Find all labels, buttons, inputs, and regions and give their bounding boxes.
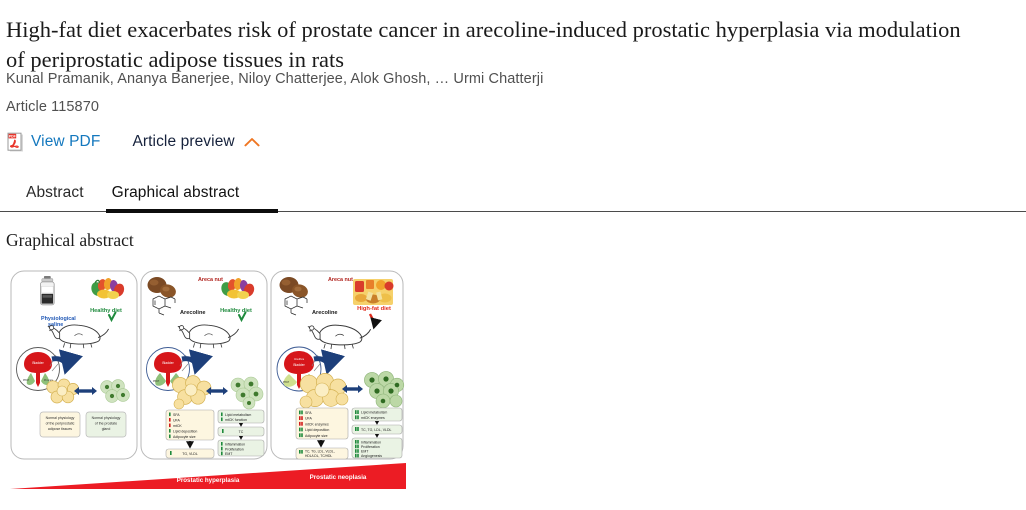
panel3-source-label: Areca nut [328, 277, 353, 283]
svg-text:TC, TG, LDL, VLDL,: TC, TG, LDL, VLDL, [305, 450, 335, 454]
svg-text:mtCK enzymes: mtCK enzymes [361, 416, 385, 420]
panel3-prostate-outcomes: Inflammation Proliferation EMT Angiogene… [352, 438, 402, 458]
panel2-adipose-outcomes: TG, VLDL [166, 449, 214, 458]
svg-text:of the prostate: of the prostate [95, 421, 117, 425]
view-pdf-link[interactable]: PDF View PDF [6, 132, 100, 153]
tab-list: Abstract Graphical abstract [12, 181, 253, 211]
svg-text:Prostatic neoplasia: Prostatic neoplasia [310, 474, 367, 481]
svg-text:SFA: SFA [173, 413, 180, 417]
svg-text:PPAT: PPAT [153, 380, 160, 383]
panel-arecoline-hfd: Areca nut Arecoline [271, 271, 404, 459]
progression-banner: Prostatic hyperplasia Prostatic neoplasi… [10, 463, 406, 489]
svg-text:Proliferation: Proliferation [361, 445, 380, 449]
svg-text:Bladder: Bladder [162, 361, 174, 365]
svg-text:Adipocyte size: Adipocyte size [305, 434, 328, 438]
panel2-treatment-label: Arecoline [180, 310, 206, 316]
panel2-adipose-markers: SFA UFA mtCK Lipid deposition Adipocyte … [166, 410, 214, 440]
svg-text:mtCK: mtCK [173, 424, 182, 428]
svg-text:Lipid deposition: Lipid deposition [305, 428, 329, 432]
active-tab-indicator [106, 209, 278, 213]
panel3-diet-label: High-fat diet [357, 306, 391, 312]
article-number: Article 115870 [6, 99, 99, 115]
svg-text:PPAT: PPAT [283, 381, 290, 384]
svg-text:Lipid metabolism: Lipid metabolism [225, 413, 251, 417]
svg-text:Lipid metabolism: Lipid metabolism [361, 411, 387, 415]
panel1-note-prostate: Normal physiology of the prostate gland [86, 412, 126, 437]
svg-text:Prostatic hyperplasia: Prostatic hyperplasia [177, 477, 240, 484]
svg-text:Normal physiology: Normal physiology [92, 416, 121, 420]
svg-text:mtCK function: mtCK function [225, 418, 247, 422]
svg-text:Bladder: Bladder [32, 361, 44, 365]
svg-text:Inflammation: Inflammation [361, 440, 381, 444]
svg-text:UFA: UFA [305, 417, 312, 421]
svg-text:TG, VLDL: TG, VLDL [182, 452, 198, 456]
panel3-prostate-markers: Lipid metabolism mtCK enzymes [352, 408, 402, 421]
tab-abstract[interactable]: Abstract [12, 181, 98, 211]
svg-text:EMT: EMT [225, 452, 233, 456]
svg-text:Angiogenesis: Angiogenesis [361, 454, 382, 458]
graphical-abstract-figure[interactable]: Prostatic hyperplasia Prostatic neoplasi… [8, 267, 408, 492]
panel2-prostate-outcomes: Inflammation Proliferation EMT [218, 440, 264, 456]
view-pdf-label: View PDF [31, 133, 100, 151]
panel2-prostate-markers: Lipid metabolism mtCK function [218, 410, 264, 423]
panel-control: Physiological saline Healthy diet [11, 271, 137, 459]
graphical-abstract-svg: Prostatic hyperplasia Prostatic neoplasi… [8, 267, 408, 492]
section-heading: Graphical abstract [6, 230, 134, 251]
panel1-diet-label: Healthy diet [90, 308, 122, 314]
svg-text:Proliferation: Proliferation [225, 447, 244, 451]
svg-text:PDF: PDF [9, 134, 16, 138]
panel2-prostate-markers-2: TC [218, 427, 264, 436]
panel3-adipose-markers: SFA UFA mtCK enzymes Lipid deposition Ad… [296, 408, 348, 439]
pdf-file-icon: PDF [6, 132, 24, 153]
page-title: High-fat diet exacerbates risk of prosta… [6, 15, 966, 75]
article-preview-toggle[interactable]: Article preview [132, 133, 259, 151]
svg-text:Inflammation: Inflammation [225, 443, 245, 447]
svg-text:mtCK enzymes: mtCK enzymes [305, 422, 329, 426]
svg-text:adipose tissues: adipose tissues [48, 427, 72, 431]
svg-text:Lipid deposition: Lipid deposition [173, 430, 197, 434]
panel3-prostate-markers-2: TC, TG, LDL, VLDL [352, 425, 402, 434]
svg-text:PPAT: PPAT [23, 379, 30, 382]
article-actions: PDF View PDF Article preview [6, 128, 260, 156]
svg-text:UFA: UFA [173, 419, 180, 423]
svg-text:TC, TG, LDL, VLDL: TC, TG, LDL, VLDL [361, 428, 392, 432]
panel2-diet-label: Healthy diet [220, 308, 252, 314]
svg-text:of the periprostatic: of the periprostatic [46, 421, 75, 425]
svg-text:Normal physiology: Normal physiology [46, 416, 75, 420]
author-list: Kunal Pramanik, Ananya Banerjee, Niloy C… [6, 71, 543, 87]
panel1-note-adipose: Normal physiology of the periprostatic a… [40, 412, 80, 437]
svg-text:HDL/LDL, TC/HDL: HDL/LDL, TC/HDL [305, 454, 332, 458]
svg-text:Bladder: Bladder [293, 363, 305, 367]
chevron-up-icon [244, 137, 260, 147]
svg-text:TC: TC [239, 430, 244, 434]
panel3-treatment-label: Arecoline [312, 310, 338, 316]
panel3-adipose-outcomes: TC, TG, LDL, VLDL, HDL/LDL, TC/HDL [296, 448, 348, 459]
preview-tabstrip: Abstract Graphical abstract [0, 181, 1026, 214]
svg-text:Adipocyte size: Adipocyte size [173, 435, 196, 439]
svg-text:Urethra: Urethra [294, 357, 304, 361]
panel-arecoline: Areca nut Arecoline [141, 271, 267, 459]
svg-text:SFA: SFA [305, 411, 312, 415]
panel2-source-label: Areca nut [198, 277, 223, 283]
article-preview-label: Article preview [132, 133, 234, 151]
svg-text:gland: gland [102, 427, 111, 431]
tab-graphical-abstract[interactable]: Graphical abstract [98, 181, 254, 211]
article-preview-page: High-fat diet exacerbates risk of prosta… [0, 0, 1026, 510]
saline-bottle-icon [41, 276, 55, 305]
svg-text:EMT: EMT [361, 450, 369, 454]
junk-food-icon [353, 279, 394, 305]
